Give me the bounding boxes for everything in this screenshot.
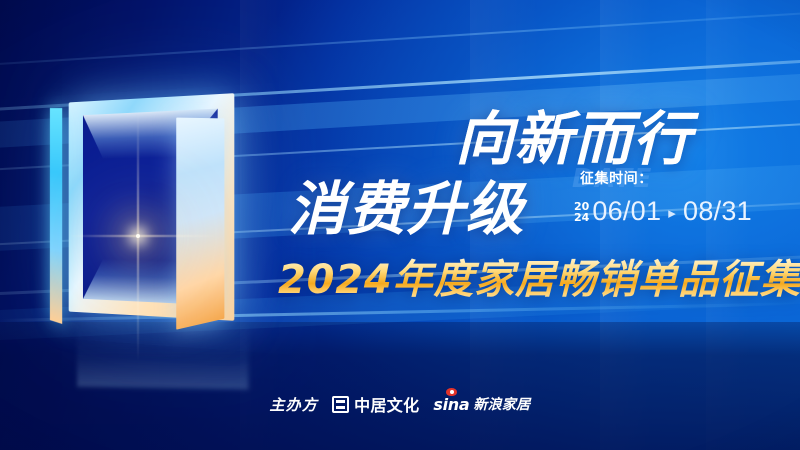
light-streak: [0, 0, 800, 76]
sponsor-name-sina: 新浪家居: [473, 394, 530, 414]
glowing-portal-door-icon: [40, 92, 270, 342]
date-year-stacked: 20 24: [574, 201, 589, 223]
date-range: 06/01▸08/31: [592, 196, 752, 227]
sina-logo-mark: sina: [433, 395, 469, 414]
date-start: 06/01: [592, 196, 661, 226]
date-year-bottom: 24: [574, 212, 589, 223]
sponsor-logo-sina: sina 新浪家居: [433, 394, 530, 414]
promo-banner: 向新而行 消费升级 2024年度家居畅销单品征集 DATE 征集时间： 20 2…: [0, 0, 800, 450]
sina-eye-icon: [446, 388, 457, 396]
door-left-edge: [50, 108, 62, 324]
light-burst-ray-horizontal: [68, 235, 218, 237]
date-end: 08/31: [683, 196, 752, 226]
square-bars-logo-icon: [332, 396, 349, 413]
date-year-top: 20: [574, 201, 589, 212]
date-label: 征集时间：: [580, 168, 752, 188]
sponsor-label: 主办方: [270, 394, 319, 415]
date-range-row: 20 24 06/01▸08/31: [574, 196, 752, 227]
date-separator-icon: ▸: [661, 205, 683, 222]
sponsor-logo-zhongju: 中居文化: [332, 392, 419, 416]
light-burst-icon: [136, 234, 140, 238]
date-block: DATE 征集时间： 20 24 06/01▸08/31: [574, 168, 752, 227]
door-reflection: [77, 323, 248, 390]
sponsor-bar: 主办方 中居文化 sina 新浪家居: [0, 392, 800, 416]
sponsor-name-zhongju: 中居文化: [354, 392, 419, 416]
door-open-panel: [176, 118, 224, 330]
sina-wordmark: sina: [433, 395, 469, 414]
